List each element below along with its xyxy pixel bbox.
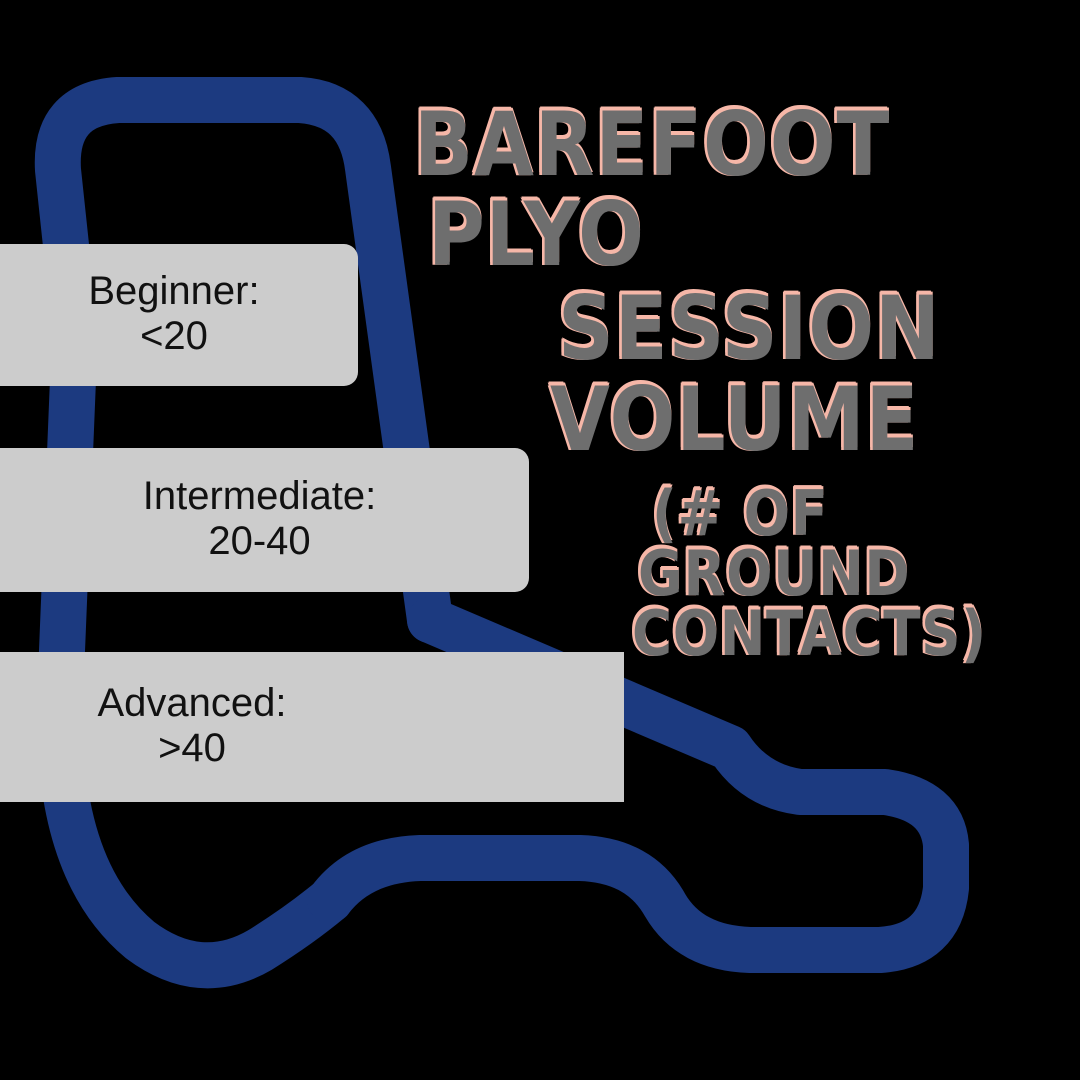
level-box-intermediate: Intermediate: 20-40	[0, 448, 529, 592]
title-line-ground: GROUND	[638, 545, 1036, 603]
level-name-beginner: Beginner:	[88, 269, 259, 314]
level-value-advanced: >40	[158, 726, 226, 771]
level-box-advanced: Advanced: >40	[0, 652, 624, 802]
title-line-plyo: PLYO	[428, 194, 1011, 276]
level-value-beginner: <20	[140, 314, 208, 359]
level-value-intermediate: 20-40	[208, 519, 310, 564]
title-line-contacts: CONTACTS)	[632, 605, 1035, 663]
title-line-volume: VOLUME	[550, 379, 1025, 461]
infographic-canvas: BAREFOOT PLYO SESSION VOLUME (# OF GROUN…	[0, 0, 1080, 1080]
level-name-advanced: Advanced:	[97, 681, 286, 726]
title-line-session: SESSION	[558, 288, 1026, 370]
level-name-intermediate: Intermediate:	[143, 474, 376, 519]
title-line-number-of: (# OF	[652, 485, 1037, 543]
title-line-barefoot: BAREFOOT	[414, 104, 1009, 186]
level-box-beginner: Beginner: <20	[0, 244, 358, 386]
